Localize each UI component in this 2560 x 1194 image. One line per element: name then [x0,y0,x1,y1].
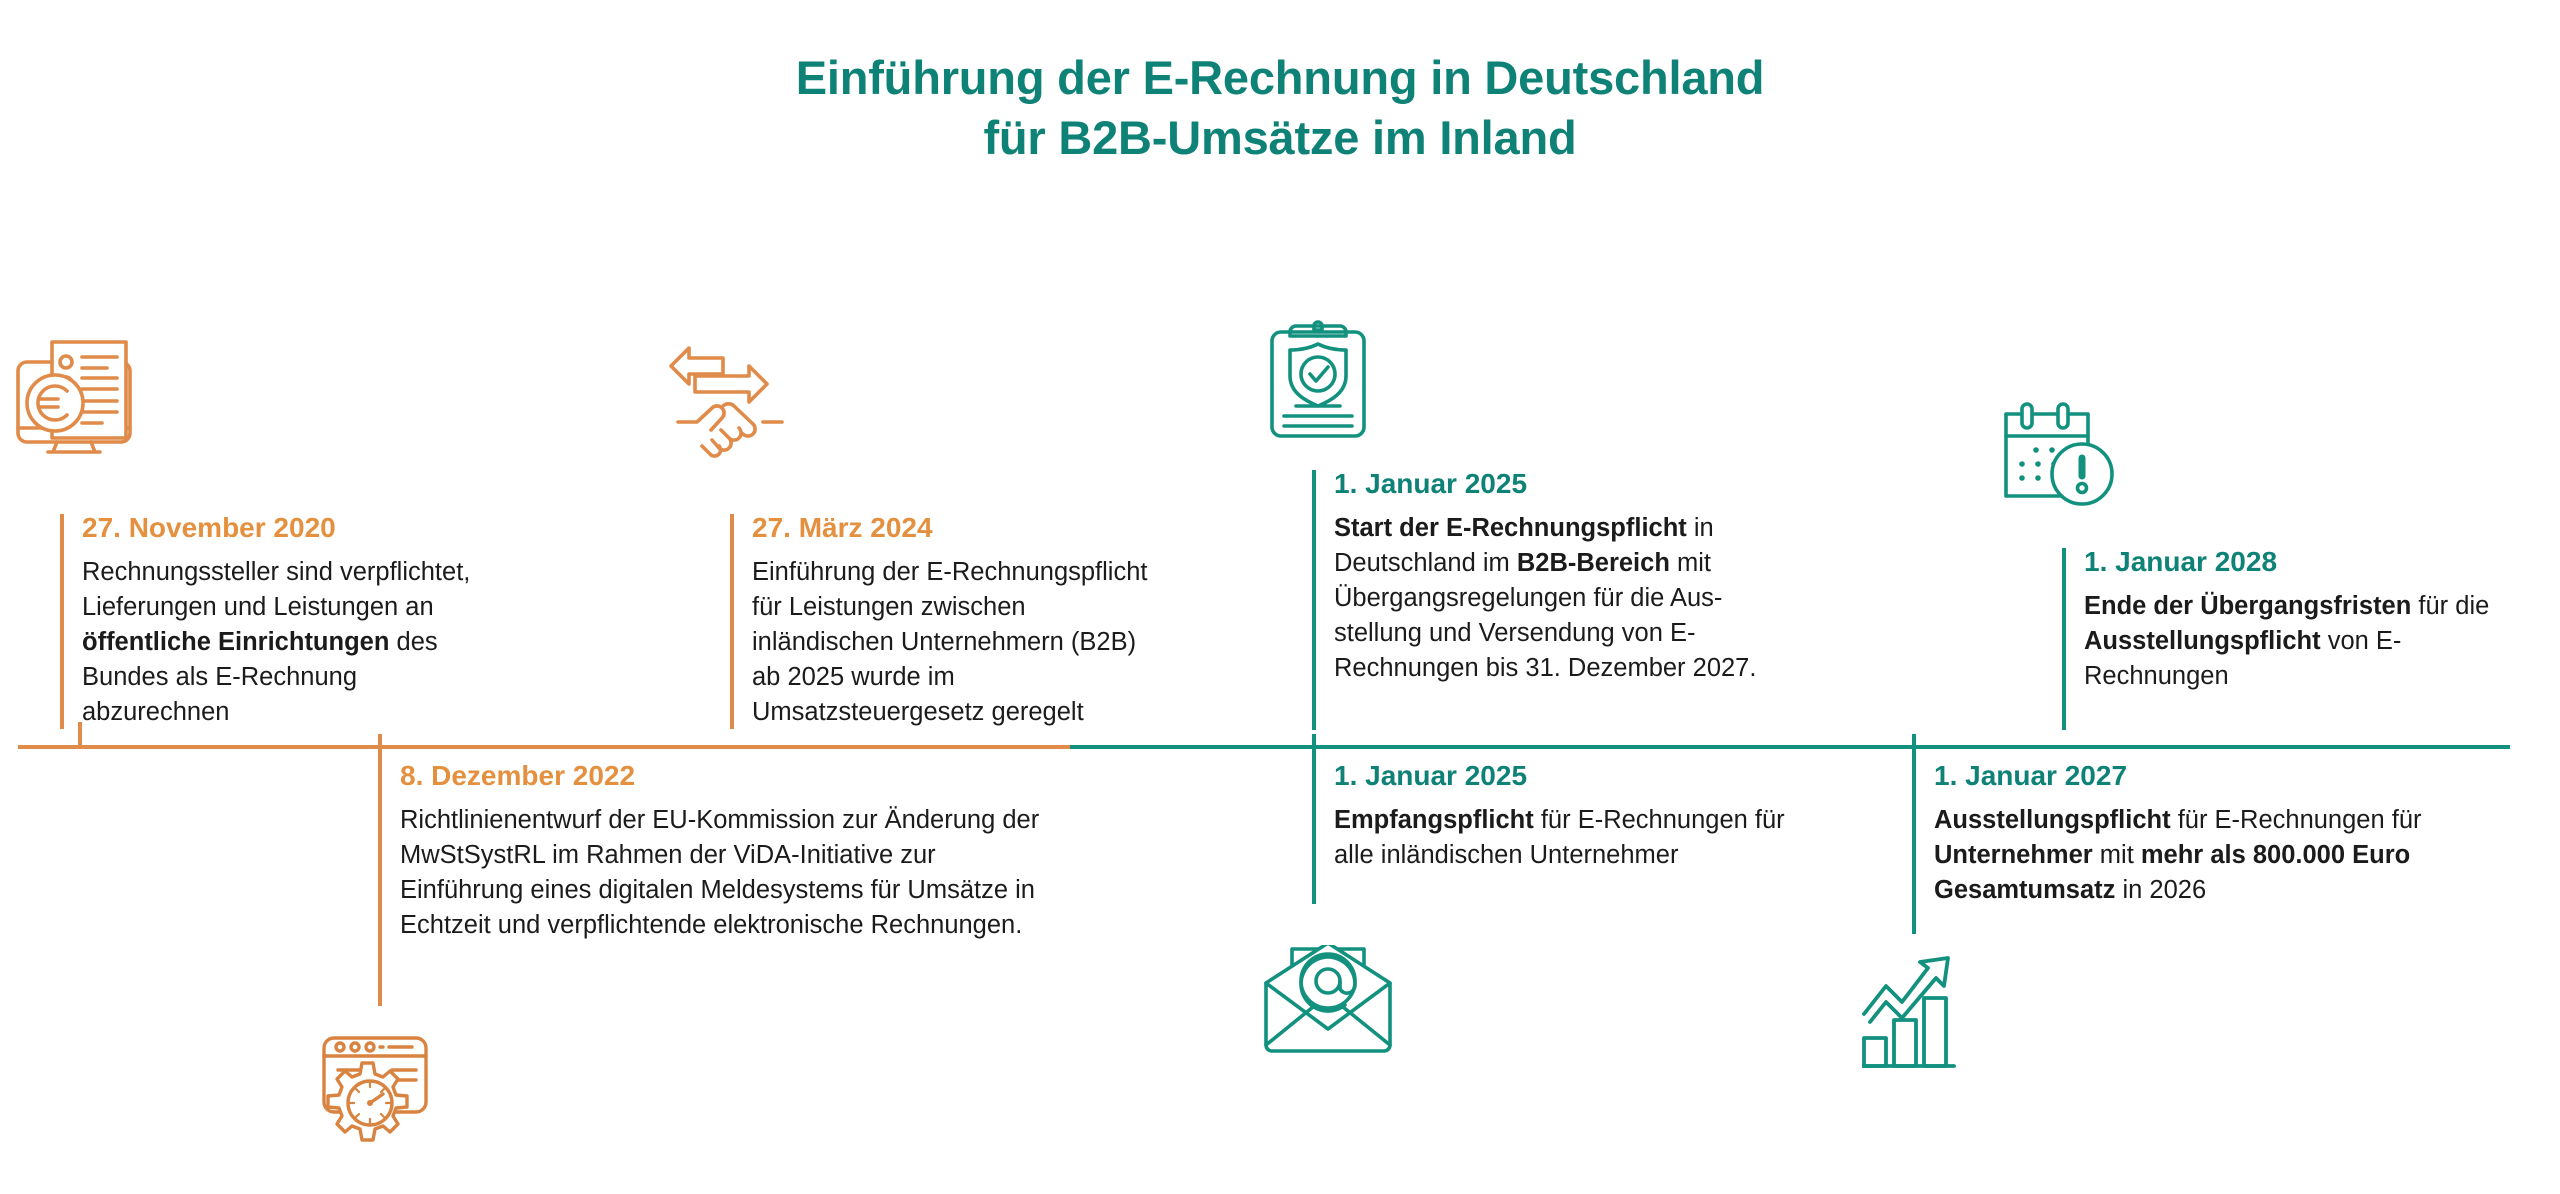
title-line-2: für B2B-Umsätze im Inland [0,108,2560,168]
event-date: 1. Januar 2025 [1334,762,1792,790]
timeline-event-e6: 1. Januar 2027 Ausstellungspflicht für E… [1912,762,2472,908]
event-description: Einführung der E-Rechnungspflicht für Le… [752,555,1150,730]
growth-bar-chart-icon [1862,952,1982,1070]
event-description: Start der E-Rechnungspflicht in Deutschl… [1334,511,1782,686]
timeline-event-e2: 8. Dezember 2022 Richtlinienentwurf der … [378,762,1058,943]
event-connector-bar [2062,548,2066,730]
event-description: Rechnungssteller sind verpflichtet, Lief… [82,555,490,730]
event-date: 1. Januar 2028 [2084,548,2512,576]
event-date: 27. November 2020 [82,514,490,542]
timeline-event-e7: 1. Januar 2028 Ende der Übergangsfristen… [2062,548,2512,714]
page-title: Einführung der E-Rechnung in Deutschland… [0,48,2560,168]
timeline-axis-orange-segment [18,745,1070,749]
envelope-at-icon [1258,945,1398,1060]
timeline-event-e5: 1. Januar 2025 Empfangspflicht für E-Rec… [1312,762,1792,873]
browser-gear-icon [310,1030,440,1150]
calendar-alert-icon [2000,400,2120,512]
timeline-axis-teal-segment [1070,745,2510,749]
clipboard-shield-check-icon [1268,318,1372,443]
event-description: Empfangspflicht für E-Rechnungen für all… [1334,803,1792,873]
monitor-invoice-euro-icon [10,330,150,455]
event-connector-bar [730,514,734,729]
event-connector-bar [1912,734,1916,934]
event-date: 1. Januar 2027 [1934,762,2472,790]
infographic-canvas: Einführung der E-Rechnung in Deutschland… [0,0,2560,1194]
event-connector-bar [60,514,64,729]
event-description: Ausstellungspflicht für E-Rechnungen für… [1934,803,2472,908]
event-connector-bar [378,734,382,1006]
timeline-event-e1: 27. November 2020 Rechnungssteller sind … [60,514,490,714]
timeline-event-e3: 27. März 2024 Einführung der E-Rechnungs… [730,514,1150,714]
handshake-exchange-arrows-icon [665,340,795,458]
event-description: Richtlinienentwurf der EU-Kommission zur… [400,803,1058,943]
event-date: 1. Januar 2025 [1334,470,1782,498]
title-line-1: Einführung der E-Rechnung in Deutschland [796,51,1765,104]
event-connector-bar [1312,470,1316,730]
event-date: 8. Dezember 2022 [400,762,1058,790]
event-date: 27. März 2024 [752,514,1150,542]
event-connector-bar [1312,734,1316,904]
event-description: Ende der Übergangsfristen für die Ausste… [2084,589,2512,694]
timeline-event-e4: 1. Januar 2025 Start der E-Rechnungspfli… [1312,470,1782,715]
